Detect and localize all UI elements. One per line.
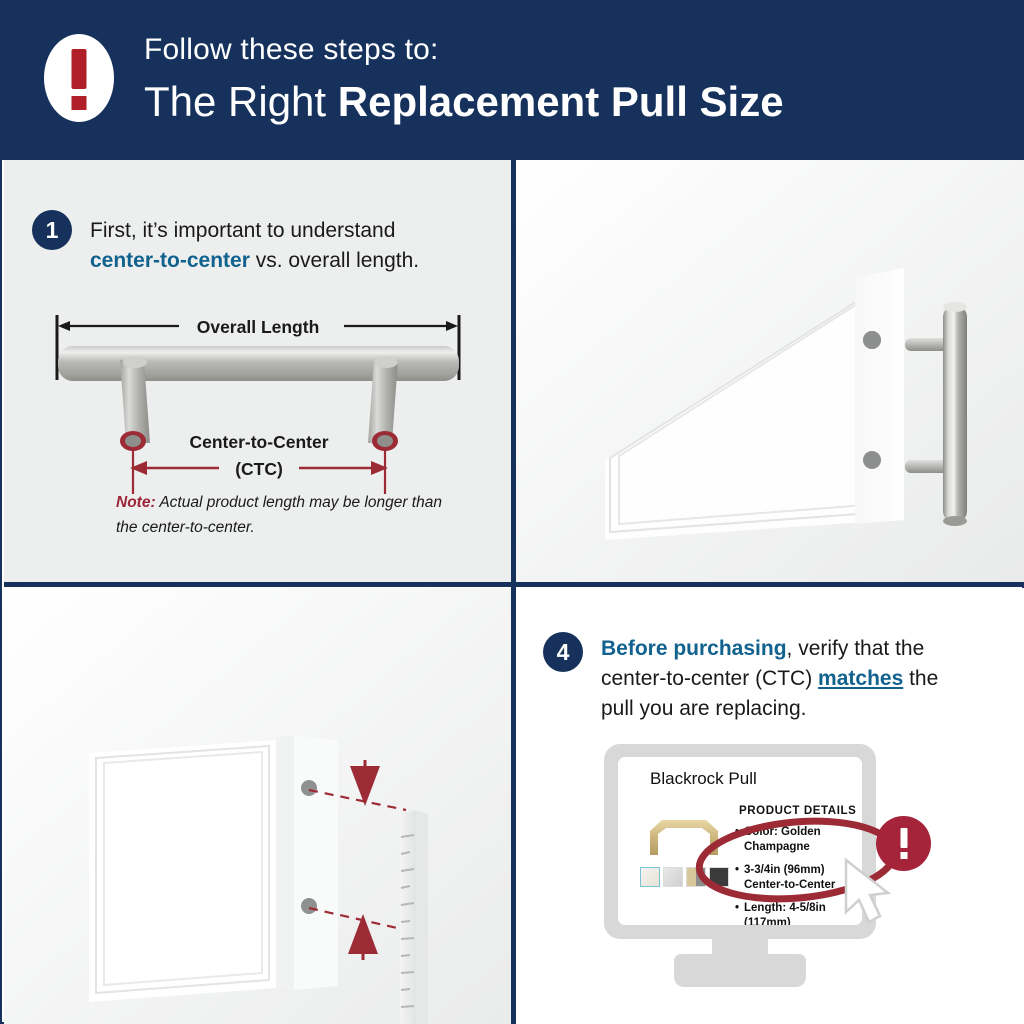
vertical-divider [511,160,516,1024]
cabinet-door-with-pull-photo [515,160,1024,584]
step-1-note-label: Note: [116,494,156,511]
header-eyebrow: Follow these steps to: [144,33,439,67]
product-title: Blackrock Pull [650,769,757,789]
exclamation-dot [900,852,907,859]
svg-text:(CTC): (CTC) [235,459,283,479]
horizontal-divider [4,582,1024,587]
thumbnail-2[interactable] [663,867,683,887]
infographic-page: Follow these steps to: The Right Replace… [0,0,1024,1024]
step-3-panel: 3 Measure the distance between the cente… [4,588,513,1024]
step-4-text-highlight: Before purchasing [601,637,787,660]
thumbnail-1[interactable] [640,867,660,887]
step-2-panel: 2 If you are replacing a pull, start by … [515,160,1024,584]
exclamation-bar [72,49,87,89]
step-1-note-text: Actual product length may be longer than… [116,494,442,536]
exclamation-circle-icon [44,34,114,122]
exclamation-circle-icon [876,816,931,871]
step-4-text: Before purchasing, verify that the cente… [601,634,971,724]
header-title-light: The Right [144,78,338,125]
step-4-badge: 4 [543,632,583,672]
header-title-bold: Replacement Pull Size [338,78,784,125]
exclamation-bar [900,828,907,848]
svg-text:Overall Length: Overall Length [197,317,320,337]
monitor-base [674,954,806,987]
header-banner: Follow these steps to: The Right Replace… [2,2,1024,160]
cabinet-door-with-ruler-photo [4,588,513,1024]
svg-text:Center-to-Center: Center-to-Center [189,432,328,452]
step-1-note: Note: Actual product length may be longe… [116,490,446,540]
exclamation-dot [72,96,87,110]
header-title: The Right Replacement Pull Size [144,78,784,126]
step-4-matches-link[interactable]: matches [818,667,903,690]
